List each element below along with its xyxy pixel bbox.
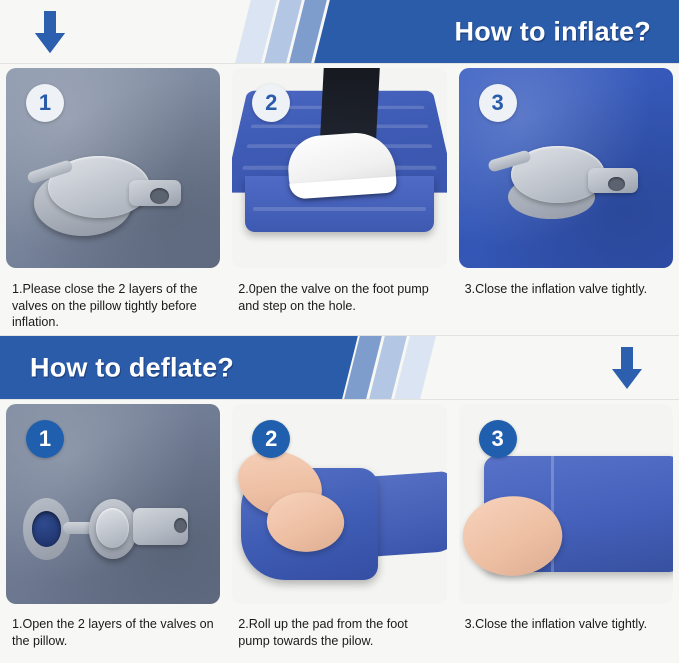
- valve-assembly-open: [23, 148, 199, 248]
- page-title-deflate: How to deflate?: [30, 352, 234, 383]
- step-card-inflate-3[interactable]: 3: [453, 64, 679, 272]
- inflate-step-images: 1 2: [0, 64, 679, 272]
- step-card-deflate-2[interactable]: 2: [226, 400, 452, 608]
- step-number: 3: [491, 426, 503, 452]
- inflate-captions: 1.Please close the 2 layers of the valve…: [0, 272, 679, 335]
- step-caption: 3.Close the inflation valve tightly.: [453, 608, 679, 653]
- arrow-down-icon: [609, 345, 645, 391]
- step-caption: 1.Open the 2 layers of the valves on the…: [0, 608, 226, 653]
- step-number: 1: [39, 426, 51, 452]
- deflate-step-images: 1 2 3: [0, 400, 679, 608]
- infographic-page: How to inflate? 1: [0, 0, 679, 663]
- step-card-deflate-1[interactable]: 1: [0, 400, 226, 608]
- step-card-deflate-3[interactable]: 3: [453, 400, 679, 608]
- deflate-banner: How to deflate?: [0, 336, 679, 399]
- step-caption: 2.Roll up the pad from the foot pump tow…: [226, 608, 452, 653]
- step-badge: 1: [26, 420, 64, 458]
- step-image-deflate-3: 3: [459, 404, 673, 604]
- step-caption: 2.0pen the valve on the foot pump and st…: [226, 272, 452, 335]
- step-image-deflate-2: 2: [232, 404, 446, 604]
- step-card-inflate-1[interactable]: 1: [0, 64, 226, 272]
- step-image-inflate-1: 1: [6, 68, 220, 268]
- valve-assembly-closed: [484, 140, 651, 232]
- arrow-down-icon: [32, 9, 68, 55]
- step-number: 2: [265, 90, 277, 116]
- step-caption: 3.Close the inflation valve tightly.: [453, 272, 679, 335]
- deflate-captions: 1.Open the 2 layers of the valves on the…: [0, 608, 679, 653]
- step-caption: 1.Please close the 2 layers of the valve…: [0, 272, 226, 335]
- step-number: 2: [265, 426, 277, 452]
- step-card-inflate-2[interactable]: 2: [226, 64, 452, 272]
- step-number: 1: [39, 90, 51, 116]
- inflate-banner: How to inflate?: [0, 0, 679, 63]
- step-image-inflate-2: 2: [232, 68, 446, 268]
- step-image-deflate-1: 1: [6, 404, 220, 604]
- step-badge: 1: [26, 84, 64, 122]
- step-badge: 3: [479, 420, 517, 458]
- valve-assembly-two-layer: [19, 496, 203, 564]
- step-badge: 3: [479, 84, 517, 122]
- page-title-inflate: How to inflate?: [455, 16, 651, 47]
- step-image-inflate-3: 3: [459, 68, 673, 268]
- step-number: 3: [491, 90, 503, 116]
